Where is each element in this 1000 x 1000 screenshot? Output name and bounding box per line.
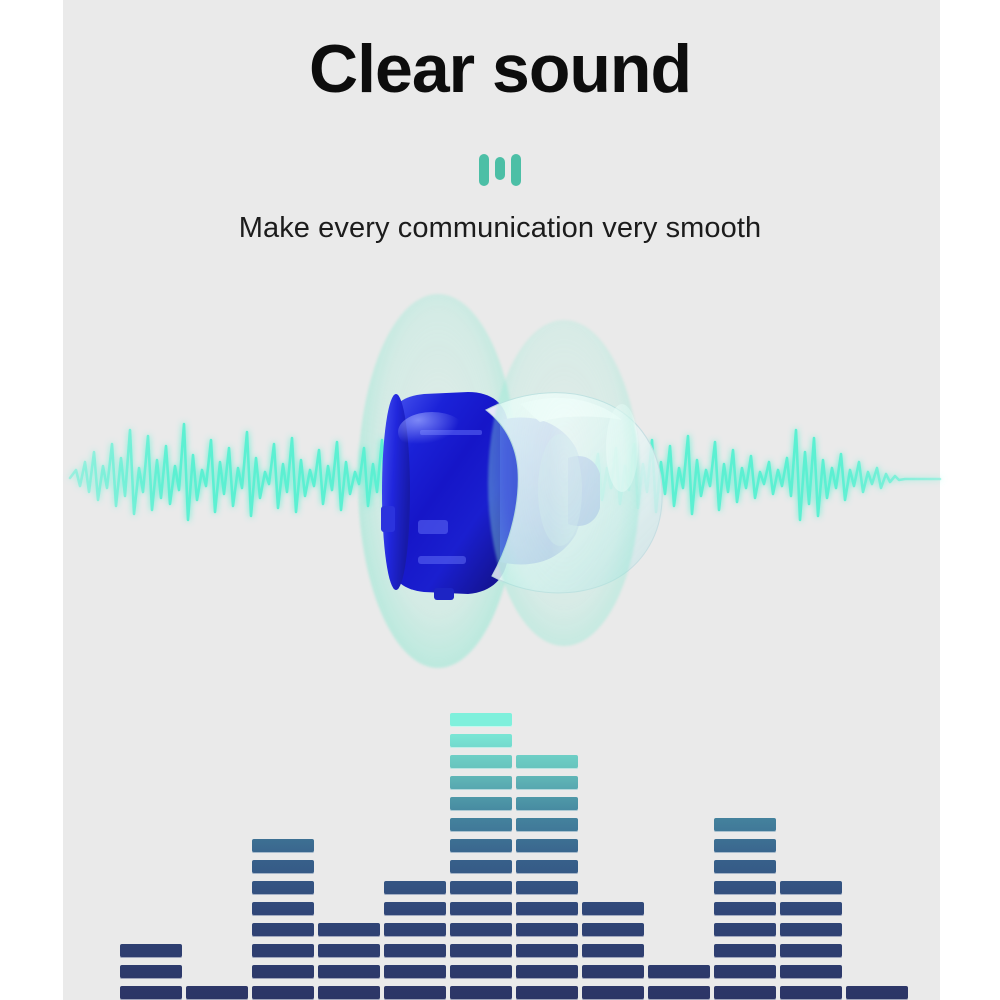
equalizer-segment	[714, 986, 776, 1000]
equalizer-column	[582, 706, 644, 1000]
equalizer-segment	[714, 839, 776, 853]
equalizer-segment	[714, 944, 776, 958]
equalizer-segment	[450, 986, 512, 1000]
equalizer-segment	[582, 923, 644, 937]
equalizer-segment	[252, 860, 314, 874]
equalizer-segment	[318, 923, 380, 937]
equalizer-segment	[780, 902, 842, 916]
equalizer-segment	[714, 860, 776, 874]
equalizer-segment	[582, 986, 644, 1000]
equalizer-segment	[120, 965, 182, 979]
equalizer-column	[318, 706, 380, 1000]
equalizer-segment	[846, 986, 908, 1000]
equalizer-segment	[450, 839, 512, 853]
equalizer-segment	[120, 986, 182, 1000]
equalizer-segment	[450, 860, 512, 874]
equalizer-segment	[582, 902, 644, 916]
equalizer-segment	[252, 881, 314, 895]
equalizer-column	[714, 706, 776, 1000]
equalizer-segment	[516, 881, 578, 895]
equalizer-segment	[450, 923, 512, 937]
equalizer-segment	[252, 944, 314, 958]
equalizer-segment	[252, 965, 314, 979]
equalizer-segment	[384, 965, 446, 979]
equalizer-segment	[450, 734, 512, 748]
equalizer-segment	[252, 839, 314, 853]
equalizer-segment	[516, 986, 578, 1000]
sound-wave-ellipse-icon	[488, 320, 640, 646]
equalizer-segment	[714, 965, 776, 979]
page-title: Clear sound	[0, 34, 1000, 105]
equalizer-column	[384, 706, 446, 1000]
equalizer-column	[450, 706, 512, 1000]
equalizer-segment	[450, 797, 512, 811]
equalizer-segment	[450, 965, 512, 979]
equalizer-segment	[120, 944, 182, 958]
equalizer-bars-icon	[0, 700, 1000, 1000]
equalizer-segment	[450, 755, 512, 769]
equalizer-segment	[450, 881, 512, 895]
equalizer-segment	[186, 986, 248, 1000]
equalizer-segment	[516, 797, 578, 811]
equalizer-segment	[582, 965, 644, 979]
equalizer-segment	[384, 944, 446, 958]
equalizer-segment	[516, 755, 578, 769]
equalizer-column	[120, 706, 182, 1000]
equalizer-segment	[450, 776, 512, 790]
equalizer-segment	[516, 965, 578, 979]
equalizer-segment	[582, 944, 644, 958]
equalizer-segment	[780, 944, 842, 958]
equalizer-segment	[780, 881, 842, 895]
equalizer-segment	[252, 986, 314, 1000]
equalizer-segment	[648, 986, 710, 1000]
equalizer-segment	[252, 923, 314, 937]
divider-bar-right	[511, 154, 521, 186]
equalizer-segment	[516, 839, 578, 853]
equalizer-segment	[516, 923, 578, 937]
equalizer-segment	[450, 902, 512, 916]
equalizer-column	[846, 706, 908, 1000]
divider-bar-middle	[495, 157, 505, 180]
equalizer-segment	[516, 818, 578, 832]
equalizer-segment	[714, 923, 776, 937]
equalizer-segment	[780, 965, 842, 979]
equalizer-segment	[318, 944, 380, 958]
equalizer-column	[186, 706, 248, 1000]
equalizer-segment	[318, 986, 380, 1000]
equalizer-segment	[516, 944, 578, 958]
product-banner: Clear sound Make every communication ver…	[0, 0, 1000, 1000]
equalizer-segment	[714, 902, 776, 916]
equalizer-column	[648, 706, 710, 1000]
equalizer-segment	[384, 902, 446, 916]
equalizer-column	[780, 706, 842, 1000]
equalizer-segment	[516, 902, 578, 916]
three-bars-icon	[0, 150, 1000, 192]
equalizer-column	[252, 706, 314, 1000]
equalizer-segment	[714, 881, 776, 895]
equalizer-segment	[384, 986, 446, 1000]
equalizer-column	[516, 706, 578, 1000]
equalizer-segment	[780, 923, 842, 937]
equalizer-segment	[450, 818, 512, 832]
equalizer-segment	[252, 902, 314, 916]
equalizer-segment	[384, 881, 446, 895]
equalizer-segment	[450, 713, 512, 727]
page-subtitle: Make every communication very smooth	[0, 212, 1000, 245]
equalizer-segment	[450, 944, 512, 958]
equalizer-segment	[384, 923, 446, 937]
equalizer-segment	[714, 818, 776, 832]
divider-bar-left	[479, 154, 489, 186]
equalizer-segment	[516, 776, 578, 790]
equalizer-segment	[648, 965, 710, 979]
equalizer-segment	[318, 965, 380, 979]
equalizer-segment	[516, 860, 578, 874]
equalizer-segment	[780, 986, 842, 1000]
